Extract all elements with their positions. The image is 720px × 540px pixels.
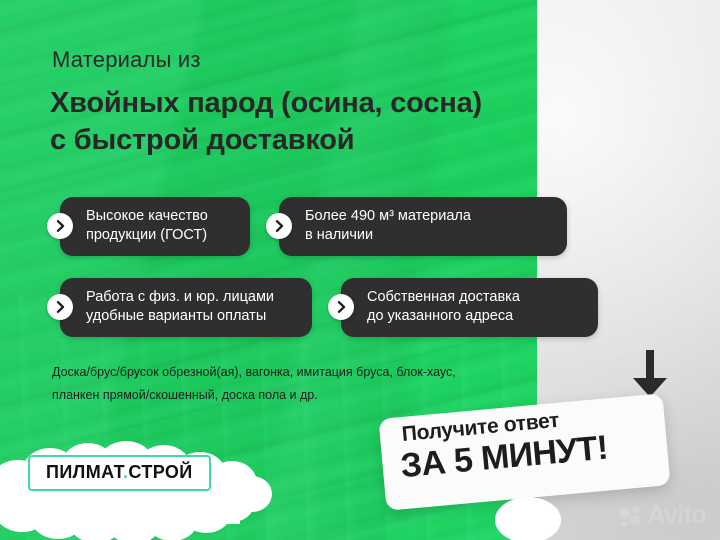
avito-logo-icon — [618, 504, 642, 528]
kicker-text: Материалы из — [52, 47, 201, 73]
avito-watermark: Avito — [618, 503, 706, 528]
chevron-right-icon — [328, 294, 354, 320]
chevron-right-icon — [266, 213, 292, 239]
feature-pill-quality[interactable]: Высокое качество продукции (ГОСТ) — [60, 197, 250, 256]
feature-pill-label: Более 490 м³ материала в наличии — [305, 207, 471, 246]
feature-pill-clients[interactable]: Работа с физ. и юр. лицами удобные вариа… — [60, 278, 312, 337]
feature-pill-delivery[interactable]: Собственная доставка до указанного адрес… — [341, 278, 598, 337]
brand-logo[interactable]: ПИЛМАТ.СТРОЙ — [28, 455, 211, 491]
avito-wordmark: Avito — [647, 503, 706, 528]
brand-logo-part2: СТРОЙ — [128, 462, 192, 482]
chevron-right-icon — [47, 294, 73, 320]
feature-pill-stock[interactable]: Более 490 м³ материала в наличии — [279, 197, 567, 256]
speech-bubble-icon — [492, 496, 564, 540]
avito-ad-banner: Материалы из Хвойных парод (осина, сосна… — [0, 0, 720, 540]
brand-logo-part1: ПИЛМАТ — [46, 462, 123, 482]
chevron-right-icon — [47, 213, 73, 239]
feature-pill-label: Высокое качество продукции (ГОСТ) — [86, 207, 208, 246]
page-title: Хвойных парод (осина, сосна) с быстрой д… — [50, 85, 482, 159]
product-description: Доска/брус/брусок обрезной(ая), вагонка,… — [52, 361, 456, 407]
feature-pill-label: Собственная доставка до указанного адрес… — [367, 288, 520, 327]
feature-pill-label: Работа с физ. и юр. лицами удобные вариа… — [86, 288, 274, 327]
